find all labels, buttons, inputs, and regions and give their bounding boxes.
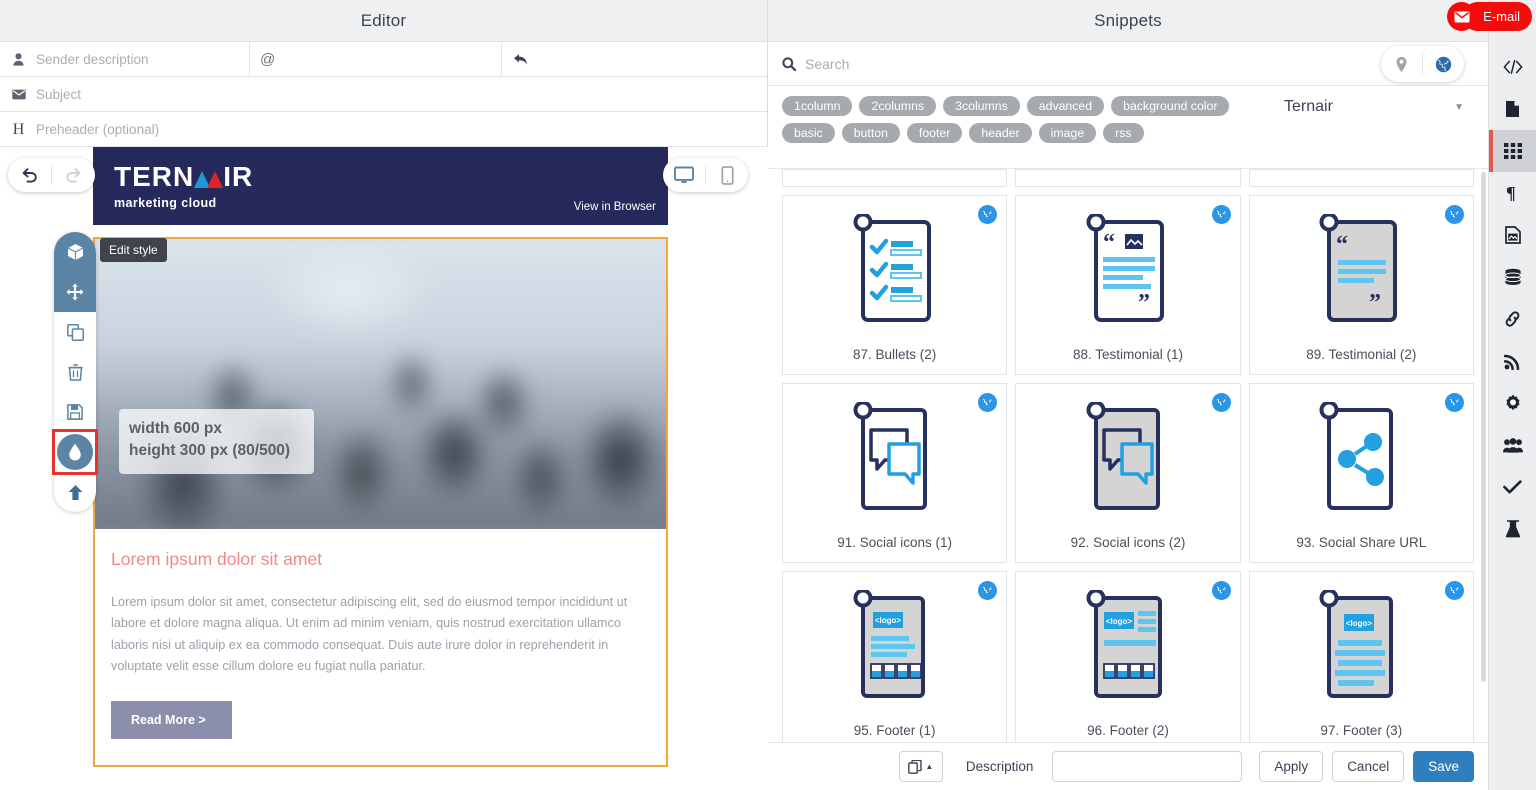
description-input[interactable] [1052,751,1242,782]
logo-part-ir: IR [223,163,253,191]
paragraph-icon[interactable]: ¶ [1489,172,1536,214]
globe-icon [978,581,997,600]
preheader-row: H Preheader (optional) [0,112,767,147]
svg-text:<logo>: <logo> [1106,617,1133,626]
subject-row: Subject [0,77,767,112]
image-width-note: width 600 px [129,418,290,440]
cube-icon[interactable] [54,232,96,272]
preheader-field[interactable]: H Preheader (optional) [0,112,767,147]
snippet-card-92[interactable]: 92. Social icons (2) [1015,383,1240,563]
email-mode-badge[interactable]: E-mail [1463,2,1532,31]
tag-chip[interactable]: button [842,123,900,143]
trash-icon[interactable] [54,352,96,392]
snippet-thumbnail-social1 [845,402,945,520]
svg-text:<logo>: <logo> [1346,619,1373,628]
tag-chip[interactable]: image [1039,123,1097,143]
block-toolbar-top-group [54,232,96,312]
device-preview-toggle [663,158,748,192]
snippet-label: 89. Testimonial (2) [1306,347,1416,362]
search-icon [782,57,796,71]
apply-button[interactable]: Apply [1259,751,1323,782]
redo-icon[interactable] [52,158,95,192]
map-pin-icon[interactable] [1381,46,1422,82]
globe-icon [1212,581,1231,600]
brand-logo: TERNIR marketing cloud [114,163,253,210]
selected-content-block[interactable]: width 600 px height 300 px (80/500) Lore… [93,237,668,767]
cancel-button[interactable]: Cancel [1332,751,1404,782]
globe-icon [1445,205,1464,224]
at-symbol: @ [260,51,275,68]
scope-toggle [1381,46,1464,82]
sender-description-field[interactable]: Sender description [0,42,250,77]
user-icon [10,53,27,66]
editor-pane: Editor Sender description @ [0,0,768,790]
editor-title-bar: Editor [0,0,767,42]
snippet-label: 96. Footer (2) [1087,723,1169,738]
globe-icon [1212,393,1231,412]
sender-row: Sender description @ [0,42,767,77]
read-more-button[interactable]: Read More > [111,701,232,739]
caret-up-icon: ▲ [925,762,933,771]
svg-text:”: ” [1138,290,1150,316]
tool-rail: ¶ [1488,0,1536,790]
snippets-pane: Snippets Search 1column 2columns 3col [768,0,1488,790]
snippet-thumbnail-footer1: <logo> [845,590,945,708]
globe-icon [978,205,997,224]
snippet-thumbnail-social2 [1078,402,1178,520]
svg-text:“: “ [1336,232,1348,258]
copy-icon[interactable] [54,312,96,352]
brand-logo-text: TERNIR [114,163,253,191]
snippet-label: 95. Footer (1) [854,723,936,738]
snippet-card-91[interactable]: 91. Social icons (1) [782,383,1007,563]
tag-filter-row: 1column 2columns 3columns advanced backg… [768,86,1488,151]
tag-chip[interactable]: header [969,123,1031,143]
code-icon[interactable] [1489,46,1536,88]
database-icon[interactable] [1489,256,1536,298]
snippet-card-88[interactable]: “ ” 88. Testimonial (1) [1015,195,1240,375]
snippet-card[interactable] [782,169,1007,187]
brand-selector[interactable]: Ternair ▼ [1284,98,1464,116]
snippet-thumbnail-bullets [845,214,945,332]
grid-icon[interactable] [1489,130,1536,172]
globe-icon [1212,205,1231,224]
envelope-icon [10,89,27,100]
snippet-card-89[interactable]: “ ” 89. Testimonial (2) [1249,195,1474,375]
snippets-search-row: Search [768,42,1488,86]
logo-part-tern: TERN [114,163,194,191]
editor-title: Editor [361,11,407,31]
snippet-card-97[interactable]: <logo> 97. Footer (3) [1249,571,1474,742]
globe-icon [978,393,997,412]
subject-placeholder: Subject [36,87,81,102]
image-height-note: height 300 px (80/500) [129,440,290,462]
tag-list: 1column 2columns 3columns advanced backg… [782,96,1272,143]
users-icon[interactable] [1489,424,1536,466]
arrow-up-icon[interactable] [54,472,96,512]
move-icon[interactable] [54,272,96,312]
save-button[interactable]: Save [1413,751,1474,782]
snippets-title-bar: Snippets [768,0,1488,42]
snippet-card-93[interactable]: 93. Social Share URL [1249,383,1474,563]
snippet-thumbnail-share [1311,402,1411,520]
image-size-note: width 600 px height 300 px (80/500) [119,409,314,474]
email-canvas: TERNIR marketing cloud View in Browser w… [0,147,768,790]
logo-triangle-red [207,171,223,188]
undo-icon[interactable] [8,158,51,192]
description-label: Description [966,759,1034,774]
heading-h-icon: H [10,121,27,139]
copy-dropdown-icon[interactable]: ▲ [899,751,943,782]
image-icon[interactable] [1489,214,1536,256]
preheader-placeholder: Preheader (optional) [36,122,159,137]
email-heading: Lorem ipsum dolor sit amet [111,549,650,570]
snippet-card-95[interactable]: <logo> 95. Footer (1) [782,571,1007,742]
flask-icon[interactable] [1489,508,1536,550]
snippet-thumbnail-testimonial1: “ ” [1078,214,1178,332]
edit-style-tooltip: Edit style [100,238,167,262]
brand-selector-value: Ternair [1284,98,1333,116]
mobile-icon[interactable] [706,158,748,192]
snippet-label: 97. Footer (3) [1320,723,1402,738]
snippet-thumbnail-footer3: <logo> [1311,590,1411,708]
snippet-grid-scroll[interactable]: 87. Bullets (2) “ [768,168,1488,742]
snippet-card[interactable] [1015,169,1240,187]
envelope-icon [1447,2,1476,31]
rss-icon[interactable] [1489,340,1536,382]
snippets-action-bar: ▲ Description Apply Cancel Save [768,742,1488,790]
email-preview: TERNIR marketing cloud View in Browser w… [93,147,668,225]
tag-chip[interactable]: footer [907,123,962,143]
sender-email-field[interactable]: @ [250,42,502,77]
snippets-scrollbar[interactable] [1481,172,1486,682]
snippet-thumbnail-footer2: <logo> [1078,590,1178,708]
snippet-card-96[interactable]: <logo> 96. Footer (2) [1015,571,1240,742]
email-header-band: TERNIR marketing cloud View in Browser [93,147,668,225]
snippet-grid: 87. Bullets (2) “ [768,195,1488,742]
svg-text:¶: ¶ [1506,184,1516,202]
gear-icon[interactable] [1489,382,1536,424]
chevron-down-icon: ▼ [1454,102,1464,113]
edit-style-highlight: Edit style [55,432,95,472]
view-in-browser-link[interactable]: View in Browser [574,201,656,213]
svg-text:“: “ [1103,230,1115,256]
email-badge-label: E-mail [1483,9,1520,24]
sender-description-placeholder: Sender description [36,52,149,67]
tag-chip[interactable]: 1column [782,96,852,116]
document-icon[interactable] [1489,88,1536,130]
email-text-body[interactable]: Lorem ipsum dolor sit amet Lorem ipsum d… [95,529,666,765]
snippet-card-87[interactable]: 87. Bullets (2) [782,195,1007,375]
snippets-title: Snippets [1094,11,1162,31]
tag-chip[interactable]: background color [1111,96,1229,116]
snippet-card[interactable] [1249,169,1474,187]
check-icon[interactable] [1489,466,1536,508]
subject-field[interactable]: Subject [0,77,767,112]
reply-arrow-icon [512,53,529,66]
reply-to-field[interactable] [502,42,767,77]
snippet-label: 91. Social icons (1) [837,535,952,550]
tag-chip[interactable]: basic [782,123,835,143]
tag-chip[interactable]: 3columns [943,96,1020,116]
history-controls [8,158,95,192]
block-toolbar: Edit style [54,232,96,512]
svg-text:”: ” [1369,290,1381,316]
snippet-thumbnail-testimonial2: “ ” [1311,214,1411,332]
snippet-label: 92. Social icons (2) [1071,535,1186,550]
droplet-icon[interactable] [57,434,93,470]
app-root: Editor Sender description @ [0,0,1536,790]
email-paragraph: Lorem ipsum dolor sit amet, consectetur … [111,592,650,677]
save-icon[interactable] [54,392,96,432]
link-icon[interactable] [1489,298,1536,340]
globe-icon [1445,393,1464,412]
tag-chip[interactable]: 2columns [859,96,936,116]
tag-chip[interactable]: rss [1103,123,1143,143]
globe-icon[interactable] [1423,46,1464,82]
snippet-grid-clipped-row [768,169,1488,187]
hero-image[interactable]: width 600 px height 300 px (80/500) [95,239,666,529]
hero-image-bitmap [95,239,666,529]
search-input[interactable]: Search [805,56,849,72]
tag-chip[interactable]: advanced [1027,96,1104,116]
desktop-icon[interactable] [663,158,705,192]
snippet-label: 93. Social Share URL [1296,535,1426,550]
svg-text:<logo>: <logo> [875,616,902,625]
snippet-label: 87. Bullets (2) [853,347,936,362]
brand-tagline: marketing cloud [114,196,253,210]
globe-icon [1445,581,1464,600]
snippet-label: 88. Testimonial (1) [1073,347,1183,362]
